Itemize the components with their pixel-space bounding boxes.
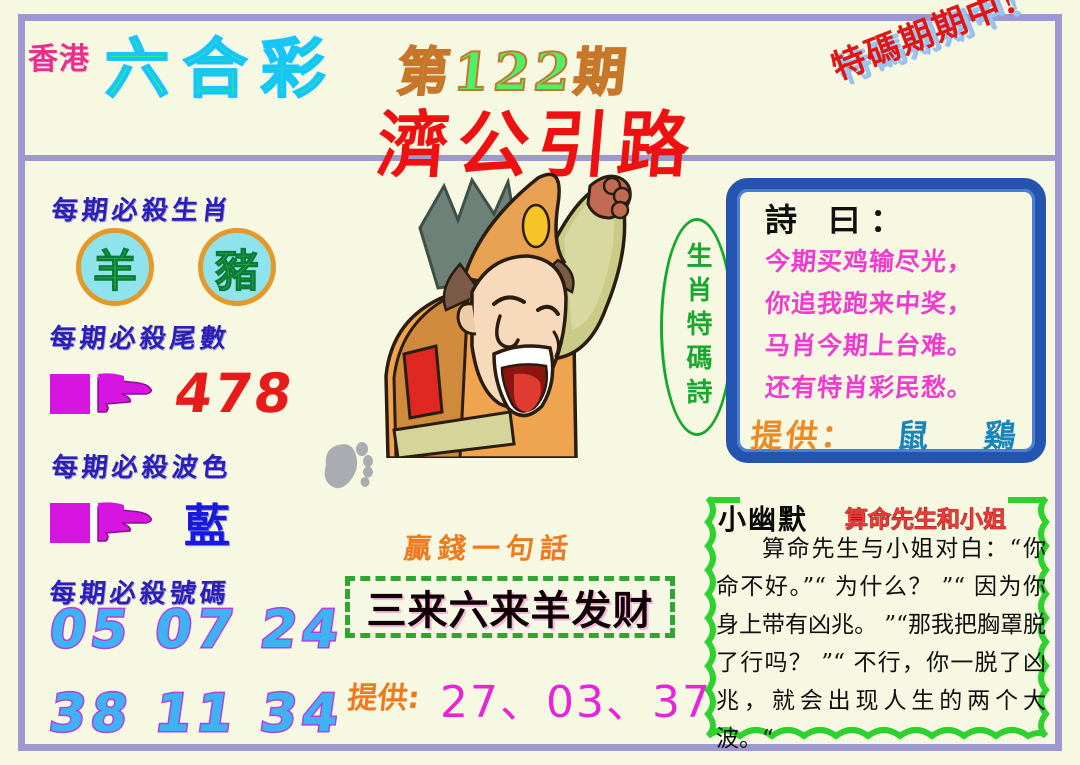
win-phrase-box: 三来六来羊发财 bbox=[345, 576, 675, 638]
number-kill-row-2: 38 11 34 bbox=[46, 684, 348, 744]
center-supply-numbers: 27、03、37 bbox=[440, 666, 712, 730]
poem-panel: 詩 曰： 今期买鸡输尽光， 你追我跑来中奖， 马肖今期上台难。 还有特肖彩民愁。… bbox=[726, 178, 1046, 463]
humor-body-text: 算命先生与小姐对白：“你命不好。”“ 为什么？ ”“ 因为你身上带有凶兆。 ”“… bbox=[716, 530, 1046, 758]
poem-line-2: 你追我跑来中奖， bbox=[764, 283, 1031, 325]
zodiac-kill-label: 每期必殺生肖 bbox=[50, 190, 234, 227]
center-supply-label: 提供: bbox=[346, 673, 423, 717]
lottery-poster: 香港 六合彩 第122期 濟公引路 特碼期期中! 每期必殺生肖 羊 豬 每期必殺… bbox=[0, 0, 1080, 765]
poem-supply-label: 提供： bbox=[749, 411, 859, 457]
tail-kill-label: 每期必殺尾數 bbox=[48, 318, 232, 355]
lottery-name: 六合彩 bbox=[105, 18, 339, 110]
diagonal-slogan: 特碼期期中! bbox=[823, 0, 1024, 89]
win-phrase-text: 三来六来羊发财 bbox=[367, 578, 654, 636]
poem-supply-value: 鼠 鷄 bbox=[895, 411, 1041, 457]
jigong-cartoon-illustration bbox=[368, 168, 643, 463]
zodiac-poem-oval-text: 生肖特碼詩 bbox=[684, 242, 710, 412]
poem-line-3: 马肖今期上台难。 bbox=[764, 325, 1031, 367]
humor-subtitle: 算命先生和小姐 bbox=[845, 500, 1006, 534]
poem-line-1: 今期买鸡输尽光， bbox=[764, 241, 1031, 283]
zodiac-kill-badge-1: 羊 bbox=[76, 228, 154, 306]
number-kill-row-1: 05 07 24 bbox=[46, 600, 348, 660]
poem-title: 詩 曰： bbox=[765, 195, 912, 241]
win-phrase-label: 贏錢一句話 bbox=[402, 527, 576, 567]
pointing-hand-icon bbox=[50, 368, 158, 418]
zodiac-poem-oval: 生肖特碼詩 bbox=[660, 218, 734, 436]
pointing-hand-icon-2 bbox=[50, 497, 158, 547]
tail-kill-numbers: 478 bbox=[171, 362, 299, 425]
zodiac-kill-badge-2: 豬 bbox=[198, 228, 276, 306]
region-label: 香港 bbox=[28, 34, 90, 78]
color-kill-value: 藍 bbox=[184, 490, 230, 556]
poem-lines: 今期买鸡输尽光， 你追我跑来中奖， 马肖今期上台难。 还有特肖彩民愁。 bbox=[765, 241, 1029, 409]
poem-line-4: 还有特肖彩民愁。 bbox=[764, 367, 1031, 409]
color-kill-label: 每期必殺波色 bbox=[50, 447, 234, 484]
